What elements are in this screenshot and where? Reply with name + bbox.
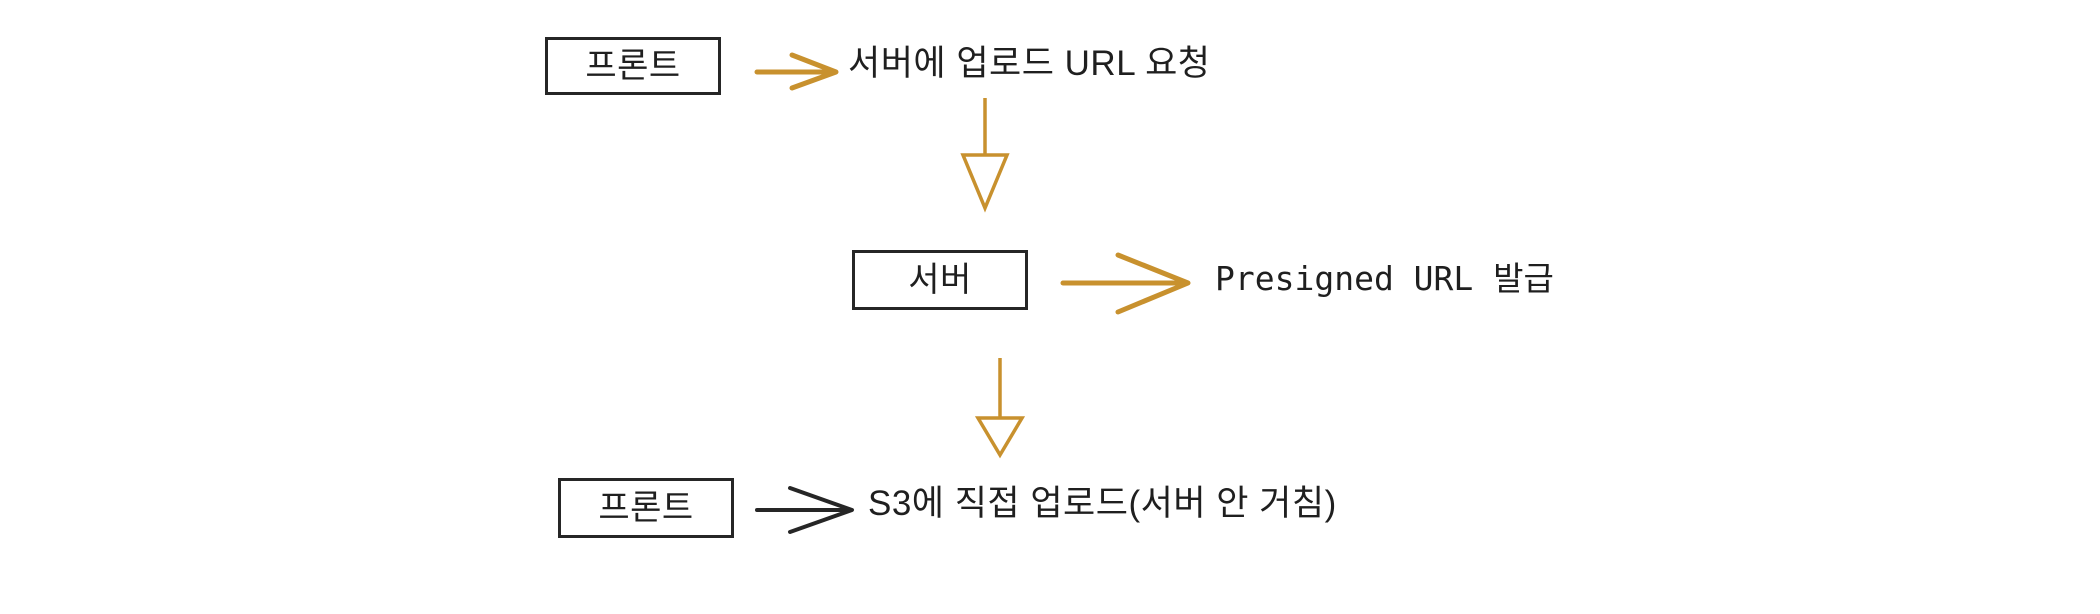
edge-label-presigned-url: Presigned URL 발급 xyxy=(1215,262,1554,295)
edge-label-request: 서버에 업로드 URL 요청 xyxy=(848,46,1211,81)
arrow-server-to-front2 xyxy=(978,358,1022,455)
node-server[interactable]: 서버 xyxy=(852,250,1028,310)
node-server-label: 서버 xyxy=(908,263,972,297)
edge-label-direct-upload: S3에 직접 업로드(서버 안 거침) xyxy=(868,486,1337,521)
diagram-canvas: 프론트 서버 프론트 서버에 업로드 URL 요청 Presigned URL … xyxy=(0,0,2100,614)
arrow-front1-to-request xyxy=(757,55,836,88)
node-front-2[interactable]: 프론트 xyxy=(558,478,734,538)
arrow-front1-to-server xyxy=(963,98,1007,208)
node-front-1-label: 프론트 xyxy=(585,49,680,83)
node-front-1[interactable]: 프론트 xyxy=(545,37,721,95)
arrow-server-to-presign xyxy=(1063,255,1188,312)
node-front-2-label: 프론트 xyxy=(598,491,693,525)
arrow-front2-to-upload xyxy=(757,488,852,532)
